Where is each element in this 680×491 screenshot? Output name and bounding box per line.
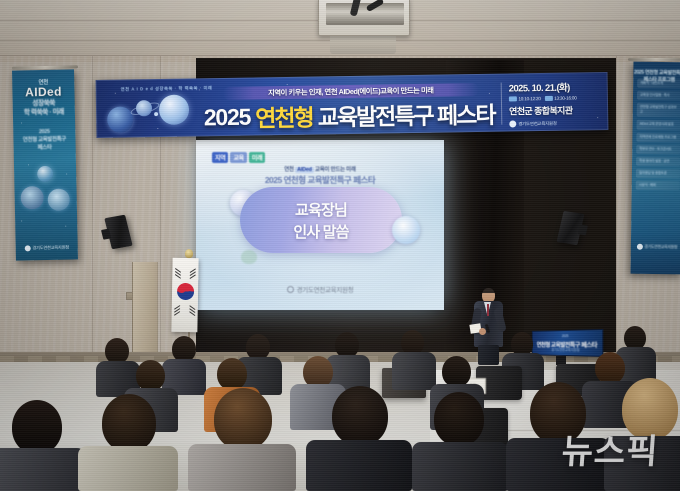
- banner-title-main: 교육발전특구 페스타: [317, 96, 494, 133]
- banner-organizer: 경기도연천교육지원청: [518, 120, 556, 127]
- banner-title-year: 2025: [204, 103, 251, 131]
- left-banner-logo: AIDed: [12, 84, 74, 99]
- auditorium-photo: 지역 교육 미래 연천 AIDed 교육이 만드는 미래 2025 연천형 교육…: [0, 0, 680, 491]
- program-row-label: 교육장 인사말씀 · 축사: [640, 93, 679, 99]
- audience-person-foreground: [306, 386, 412, 491]
- banner-place: 연천군 종합복지관: [509, 104, 573, 118]
- banner-time-2-chip: 13:30-16:00: [545, 95, 577, 100]
- screen-eyebrow: 연천 AIDed 교육이 만드는 미래: [196, 165, 444, 173]
- screen-eyebrow-prefix: 연천: [284, 167, 294, 173]
- program-row: 개회식 · 내빈소개: [637, 79, 680, 89]
- banner-time-2: 13:30-16:00: [554, 95, 576, 100]
- banner-organizer-row: 경기도연천교육지원청: [509, 120, 557, 128]
- banner-title: 2025 연천형 교육발전특구 페스타: [203, 95, 496, 136]
- screen-eyebrow-highlight: AIDed: [295, 167, 314, 173]
- banner-date: 2025. 10. 21.(화): [509, 80, 570, 95]
- left-banner-subtitle: 성장쑥쑥 학 력쑥쑥 · 미래: [13, 99, 75, 118]
- right-banner-program-list: 개회식 · 내빈소개 교육장 인사말씀 · 축사 연천형 교육발전특구 성과보고…: [636, 79, 680, 191]
- program-row: 지역연계 진로체험 프로그램: [636, 132, 680, 142]
- screen-headline-line1: 교육장님: [295, 199, 347, 220]
- program-row-label: AIDed 교육 운영사례 발표: [640, 122, 679, 128]
- screen-headline-line2: 인사 말씀: [293, 221, 348, 242]
- screen-leaf-icon: [241, 250, 257, 264]
- banner-title-highlight: 연천형: [255, 99, 313, 134]
- right-banner-footer: 경기도연천교육지원청: [631, 244, 680, 251]
- screen-tag-group: 지역 교육 미래: [212, 152, 265, 163]
- screen-eyebrow-suffix: 교육이 만드는 미래: [315, 167, 356, 173]
- clock-icon-1: [509, 96, 517, 101]
- clock-icon-2: [545, 96, 553, 101]
- screen-tag-1: 지역: [212, 152, 228, 163]
- banner-info-block: 2025. 10. 21.(화) 10:10-12:20 13:30-16:00…: [509, 79, 604, 127]
- left-banner-organizer: 경기도연천교육지원청: [32, 245, 69, 252]
- globe-icon: [37, 166, 53, 182]
- org-logo-icon: [509, 120, 516, 127]
- screen-headline: 교육장님 인사 말씀: [240, 187, 402, 253]
- program-row: 시상식 · 폐회: [636, 181, 680, 191]
- program-row-label: 학부모 연수 · 토크콘서트: [639, 146, 678, 152]
- presenter: [470, 288, 506, 364]
- screen-org-name: 경기도연천교육지원청: [297, 284, 354, 294]
- banner-time-group: 10:10-12:20 13:30-16:00: [509, 95, 577, 101]
- audience-person-foreground: [0, 400, 86, 491]
- left-banner-starfield: [12, 69, 74, 70]
- program-row: AIDed 교육 운영사례 발표: [637, 120, 680, 130]
- flag-finial-icon: [185, 249, 193, 258]
- left-vertical-banner: 연천 AIDed 성장쑥쑥 학 력쑥쑥 · 미래 2025 연천형 교육발전특구…: [12, 69, 78, 260]
- program-row: 학부모 연수 · 토크콘서트: [636, 144, 680, 154]
- right-banner-organizer: 경기도연천교육지원청: [644, 244, 677, 249]
- left-banner-event-3: 페스타: [14, 144, 76, 153]
- program-row-label: 지역연계 진로체험 프로그램: [639, 134, 678, 140]
- audience-person-foreground: [78, 394, 178, 491]
- program-row-label: 시상식 · 폐회: [639, 183, 678, 189]
- photo-bubble-icon-2: [48, 188, 70, 210]
- event-banner: 연천 A I D e d 성장쑥쑥 · 학 력쑥쑥 · 미래 지역이 키우는 인…: [96, 72, 609, 138]
- program-row-label: 학생 동아리 발표 · 공연: [639, 159, 678, 165]
- audience-person-foreground: [412, 392, 508, 491]
- right-vertical-banner: 2025 연천형 교육발전특구 페스타 프로그램 개회식 · 내빈소개 교육장 …: [631, 62, 680, 275]
- screen-subtitle: 2025 연천형 교육발전특구 페스타: [196, 174, 444, 186]
- projection-screen: 지역 교육 미래 연천 AIDed 교육이 만드는 미래 2025 연천형 교육…: [196, 140, 444, 310]
- planet-dot-icon: [154, 112, 158, 116]
- program-row: 연천형 교육발전특구 성과보고: [637, 103, 680, 118]
- screen-badge-right-icon: [392, 216, 420, 244]
- program-row-label: 질의응답 및 종합토론: [639, 171, 678, 177]
- audience-person-foreground: [188, 388, 296, 491]
- left-banner-org-logo-icon: [24, 245, 30, 251]
- program-row-label: 개회식 · 내빈소개: [640, 81, 679, 87]
- photo-bubble-icon-1: [20, 186, 43, 209]
- screen-footer: 경기도연천교육지원청: [196, 284, 444, 294]
- korean-flag-icon: [171, 258, 198, 332]
- taeguk-icon: [177, 283, 194, 300]
- projector-icon: [318, 0, 410, 36]
- projector-mount: [330, 34, 396, 54]
- screen-org-logo-icon: [287, 286, 294, 293]
- left-banner-subtitle-2: 학 력쑥쑥 · 미래: [13, 108, 75, 118]
- right-banner-rod: [628, 58, 680, 61]
- banner-time-1: 10:10-12:20: [518, 96, 540, 101]
- right-banner-org-logo-icon: [636, 244, 642, 250]
- screen-tag-2: 교육: [230, 152, 246, 163]
- program-row-label: 연천형 교육발전특구 성과보고: [640, 105, 679, 116]
- program-row: 학생 동아리 발표 · 공연: [636, 156, 680, 166]
- watermark: 뉴스픽: [560, 424, 660, 473]
- program-row: 교육장 인사말씀 · 축사: [637, 91, 680, 101]
- banner-time-1-chip: 10:10-12:20: [509, 96, 541, 101]
- left-banner-footer: 경기도연천교육지원청: [16, 244, 78, 251]
- program-row: 질의응답 및 종합토론: [636, 169, 680, 179]
- left-banner-event: 2025 연천형 교육발전특구 페스타: [13, 127, 75, 153]
- screen-tag-3: 미래: [249, 152, 265, 163]
